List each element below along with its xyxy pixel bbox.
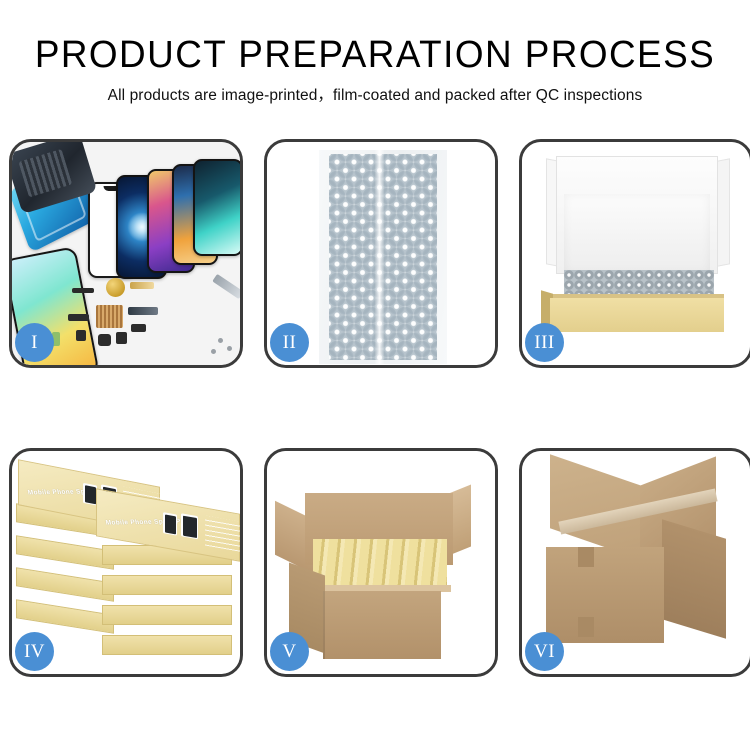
copper-shield-icon: [96, 305, 123, 328]
step-badge-6: VI: [525, 632, 564, 671]
box-front-icon: [550, 298, 724, 332]
carton-tab-bottom-icon: [578, 617, 594, 637]
box-thumb-3: [163, 512, 177, 535]
small-part-1-icon: [68, 314, 89, 321]
step-badge-1: I: [15, 323, 54, 362]
foam-sheet-icon: [564, 194, 710, 274]
phone-display-teal-icon: [193, 159, 240, 256]
carton-front-icon: [323, 591, 441, 659]
stacked-box-edge-6: [102, 575, 232, 595]
carton-interior-icon: [313, 539, 447, 589]
box-thumb-4: [181, 513, 198, 539]
step-panel-2: II: [264, 139, 498, 368]
step-badge-4: IV: [15, 632, 54, 671]
screw-2-icon: [227, 346, 232, 351]
step-panel-3: III: [519, 139, 750, 368]
sealed-carton-side-icon: [662, 519, 726, 639]
small-part-5-icon: [131, 324, 146, 332]
small-part-4-icon: [116, 332, 127, 344]
sealed-carton-front-icon: [546, 547, 664, 643]
page-subtitle: All products are image-printed，film-coat…: [0, 86, 750, 106]
box-checklist-front: [205, 516, 240, 554]
process-steps-grid: I II III: [9, 139, 741, 677]
stacked-box-edge-8: [102, 635, 232, 655]
screw-1-icon: [218, 338, 223, 343]
packed-yellow-boxes-icon: [313, 539, 447, 589]
step-panel-5: V: [264, 448, 498, 677]
step-badge-3: III: [525, 323, 564, 362]
stacked-box-edge-4: [16, 599, 114, 634]
gold-connector-icon: [130, 282, 154, 289]
product-preparation-infographic: PRODUCT PREPARATION PROCESS All products…: [0, 0, 750, 750]
pouch-seam-icon: [375, 150, 384, 364]
step-badge-5: V: [270, 632, 309, 671]
stacked-box-edge-7: [102, 605, 232, 625]
stacked-box-edge-2: [16, 535, 114, 570]
step-panel-4: Mobile Phone Spare Parts Mobile Phone Sp…: [9, 448, 243, 677]
stacked-box-edge-3: [16, 567, 114, 602]
speaker-module-icon: [106, 278, 125, 297]
screw-3-icon: [211, 349, 216, 354]
step-panel-1: I: [9, 139, 243, 368]
carton-tab-top-icon: [578, 547, 594, 567]
small-part-2-icon: [76, 330, 86, 341]
earpiece-mesh-icon: [72, 288, 94, 293]
flex-cable-icon: [128, 307, 158, 315]
small-part-3-icon: [98, 334, 111, 346]
tweezers-icon: [212, 274, 240, 299]
step-badge-2: II: [270, 323, 309, 362]
header: PRODUCT PREPARATION PROCESS All products…: [0, 0, 750, 106]
step-panel-6: VI: [519, 448, 750, 677]
carton-seam-icon: [323, 591, 325, 659]
box-thumb-1: [83, 483, 97, 506]
page-title: PRODUCT PREPARATION PROCESS: [11, 34, 739, 76]
